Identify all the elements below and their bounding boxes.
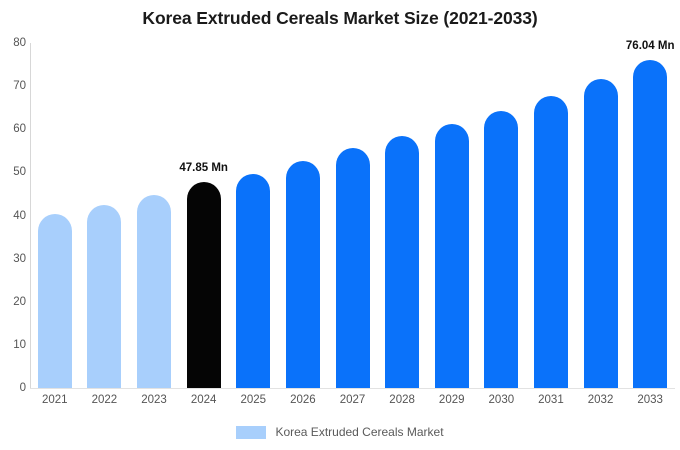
x-axis-tick-label: 2028 [377,394,427,406]
x-axis-tick-label: 2021 [30,394,80,406]
y-axis: 01020304050607080 [0,43,26,388]
bar[interactable] [336,148,370,388]
y-axis-tick-label: 20 [2,296,26,308]
bar-column[interactable]: 76.04 Mn [633,43,667,388]
bar-column[interactable] [87,43,121,388]
x-axis-tick-label: 2031 [526,394,576,406]
bar-series: 47.85 Mn76.04 Mn [30,43,675,388]
bar-column[interactable] [286,43,320,388]
x-axis-tick-label: 2024 [179,394,229,406]
bar[interactable] [435,124,469,388]
bar-column[interactable] [484,43,518,388]
bar-column[interactable] [137,43,171,388]
chart-legend: Korea Extruded Cereals Market [0,425,680,439]
bar[interactable] [584,79,618,388]
bar[interactable] [236,174,270,388]
chart-container: Korea Extruded Cereals Market Size (2021… [0,0,680,450]
bar[interactable] [137,195,171,388]
bar-column[interactable] [38,43,72,388]
bar-column[interactable] [385,43,419,388]
x-axis: 2021202220232024202520262027202820292030… [30,394,675,414]
x-axis-tick-label: 2027 [328,394,378,406]
y-axis-tick-label: 10 [2,339,26,351]
y-axis-tick-label: 0 [2,382,26,394]
legend-swatch-icon [236,426,266,439]
bar[interactable] [534,96,568,388]
x-axis-tick-label: 2029 [427,394,477,406]
bar[interactable] [87,205,121,388]
y-axis-tick-label: 60 [2,123,26,135]
chart-title: Korea Extruded Cereals Market Size (2021… [0,8,680,29]
bar-value-label: 76.04 Mn [626,40,675,52]
bar[interactable] [633,60,667,388]
y-axis-tick-label: 70 [2,80,26,92]
bar-column[interactable] [584,43,618,388]
y-axis-tick-label: 80 [2,37,26,49]
x-axis-tick-label: 2022 [80,394,130,406]
bar[interactable] [286,161,320,388]
bar-value-label: 47.85 Mn [179,162,228,174]
y-axis-tick-label: 30 [2,253,26,265]
bar-column[interactable] [435,43,469,388]
x-axis-tick-label: 2030 [477,394,527,406]
bar-column[interactable] [534,43,568,388]
bar[interactable] [38,214,72,388]
bar[interactable] [484,111,518,388]
x-axis-tick-label: 2025 [228,394,278,406]
x-axis-tick-label: 2026 [278,394,328,406]
bar-column[interactable] [336,43,370,388]
x-axis-tick-label: 2023 [129,394,179,406]
x-axis-tick-label: 2033 [625,394,675,406]
y-axis-tick-label: 40 [2,210,26,222]
bar[interactable] [385,136,419,388]
y-axis-tick-label: 50 [2,166,26,178]
x-axis-tick-label: 2032 [576,394,626,406]
legend-label: Korea Extruded Cereals Market [275,425,443,439]
bar-column[interactable]: 47.85 Mn [187,43,221,388]
x-axis-line [30,388,675,389]
bar[interactable] [187,182,221,388]
bar-column[interactable] [236,43,270,388]
